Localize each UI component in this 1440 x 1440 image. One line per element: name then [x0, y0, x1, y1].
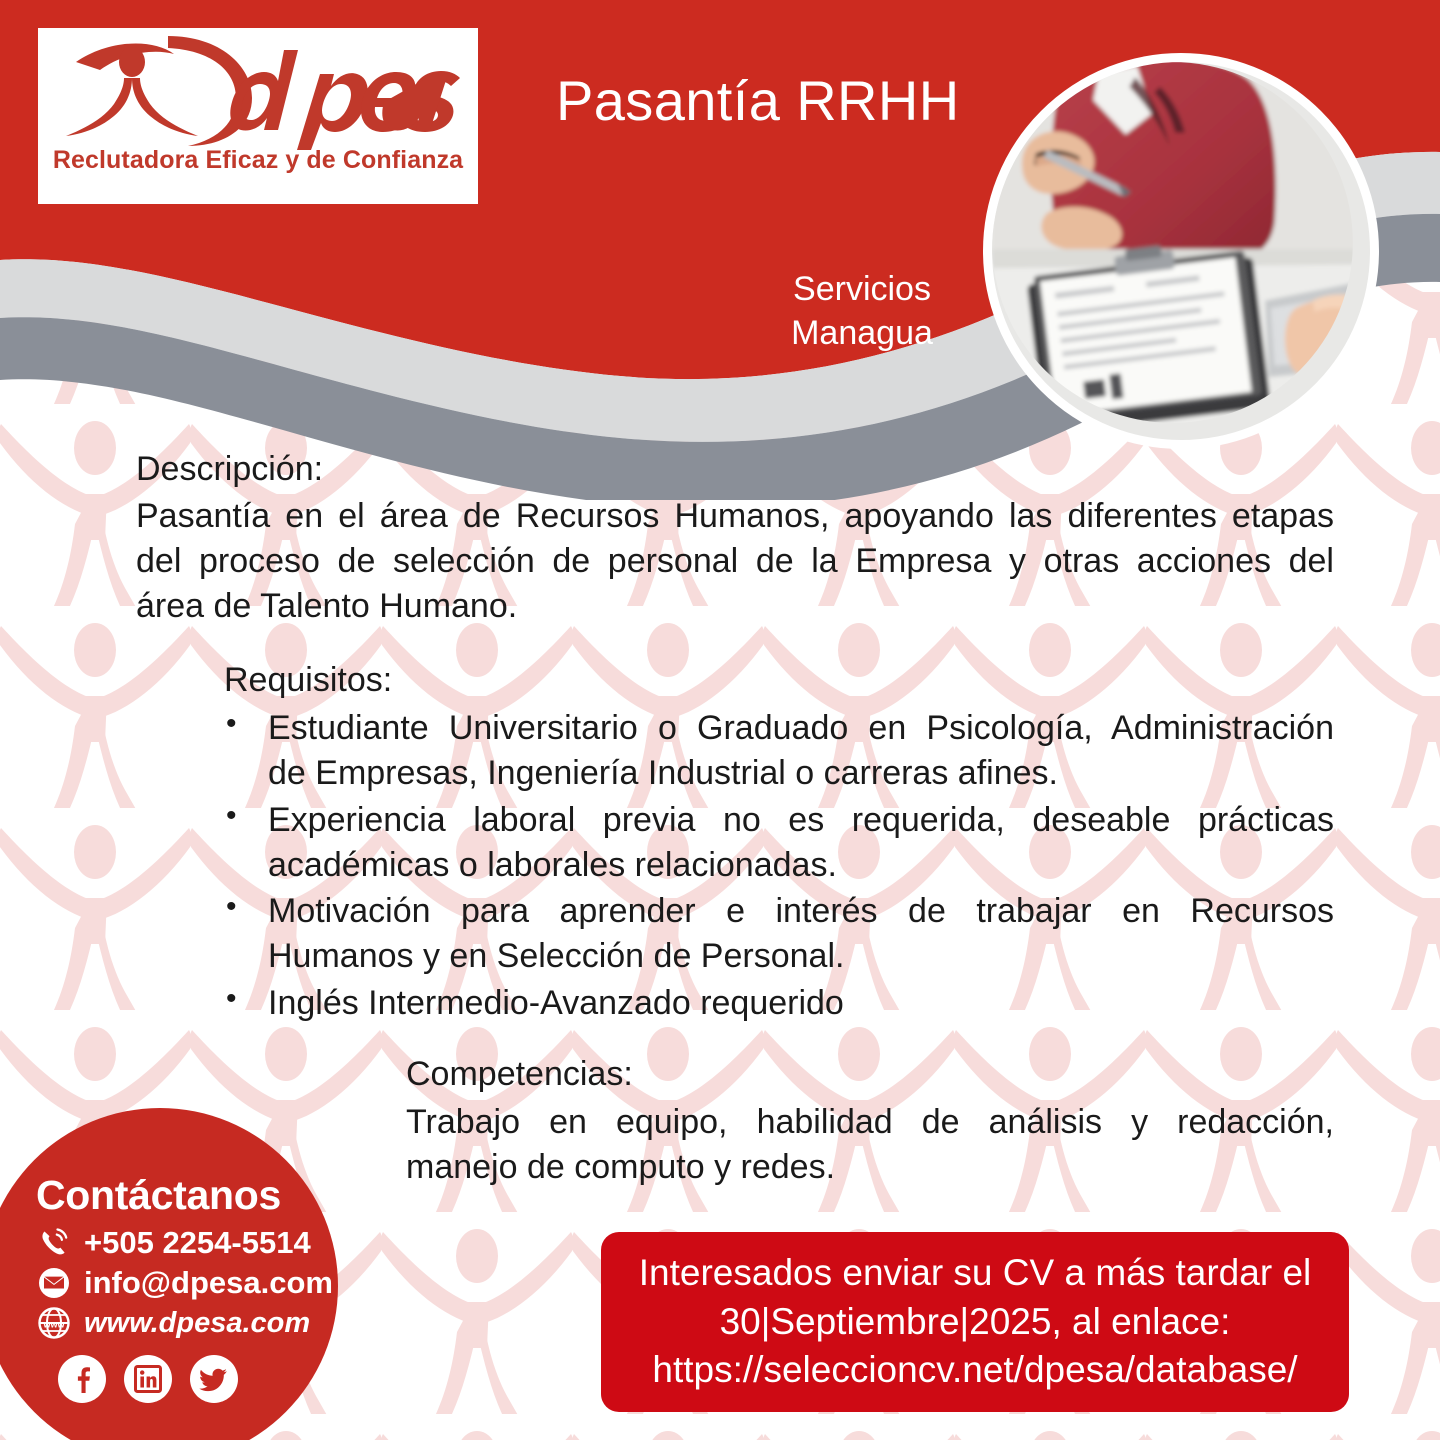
social-links	[58, 1355, 356, 1403]
description-section: Descripción: Pasantía en el área de Recu…	[136, 448, 1334, 629]
description-text: Pasantía en el área de Recursos Humanos,…	[136, 494, 1334, 630]
competencies-text: Trabajo en equipo, habilidad de análisis…	[406, 1100, 1334, 1190]
page-title: Pasantía RRHH	[556, 68, 960, 133]
facebook-button[interactable]	[58, 1355, 106, 1403]
requirement-line: Motivación para aprender e interés de tr…	[268, 889, 1334, 934]
linkedin-button[interactable]	[124, 1355, 172, 1403]
requirement-line: Inglés Intermedio-Avanzado requerido	[268, 981, 1334, 1026]
requirement-line: académicas o laborales relacionadas.	[268, 843, 1334, 888]
requirement-line: Experiencia laboral previa no es requeri…	[268, 798, 1334, 843]
requirement-line: Humanos y en Selección de Personal.	[268, 934, 1334, 979]
requirements-label: Requisitos:	[224, 658, 1334, 702]
envelope-icon	[36, 1265, 72, 1301]
header-subtitle-line1: Servicios	[782, 268, 942, 312]
competencies-section: Competencias: Trabajo en equipo, habilid…	[406, 1052, 1334, 1191]
requirement-line: Estudiante Universitario o Graduado en P…	[268, 706, 1334, 751]
list-item: Experiencia laboral previa no es requeri…	[224, 798, 1334, 888]
cta-line-2: 30|Septiembre|2025, al enlace:	[720, 1298, 1231, 1347]
contact-email: info@dpesa.com	[84, 1265, 333, 1301]
header-subtitle: Servicios Managua	[782, 268, 942, 356]
linkedin-icon	[134, 1365, 162, 1393]
logo-tagline: Reclutadora Eficaz y de Confianza	[53, 146, 463, 175]
list-item: Motivación para aprender e interés de tr…	[224, 889, 1334, 979]
contact-phone-row[interactable]: +505 2254-5514	[36, 1225, 356, 1261]
job-posting-poster: Reclutadora Eficaz y de Confianza Pasant…	[0, 0, 1440, 1440]
company-logo: Reclutadora Eficaz y de Confianza	[38, 28, 478, 204]
description-line: del proceso de selección de personal de …	[136, 539, 1334, 584]
competency-line: Trabajo en equipo, habilidad de análisis…	[406, 1100, 1334, 1145]
requirements-section: Requisitos: Estudiante Universitario o G…	[224, 658, 1334, 1027]
svg-text:www: www	[42, 1320, 65, 1330]
list-item: Estudiante Universitario o Graduado en P…	[224, 706, 1334, 796]
cta-line-1: Interesados enviar su CV a más tardar el	[639, 1249, 1312, 1298]
competencies-label: Competencias:	[406, 1052, 1334, 1096]
contact-website: www.dpesa.com	[84, 1307, 310, 1340]
contact-heading: Contáctanos	[36, 1172, 356, 1219]
interview-photo	[983, 53, 1379, 449]
contact-email-row[interactable]: info@dpesa.com	[36, 1265, 356, 1301]
requirement-line: de Empresas, Ingeniería Industrial o car…	[268, 751, 1334, 796]
twitter-button[interactable]	[190, 1355, 238, 1403]
globe-icon: www	[36, 1305, 72, 1341]
requirements-list: Estudiante Universitario o Graduado en P…	[224, 706, 1334, 1026]
list-item: Inglés Intermedio-Avanzado requerido	[224, 981, 1334, 1026]
description-label: Descripción:	[136, 448, 1334, 492]
description-line: área de Talento Humano.	[136, 584, 1334, 629]
contact-website-row[interactable]: www www.dpesa.com	[36, 1305, 356, 1341]
facebook-icon	[67, 1364, 97, 1394]
cta-application-url[interactable]: https://seleccioncv.net/dpesa/database/	[652, 1346, 1297, 1395]
contact-section: Contáctanos +505 2254-5514 info@dpesa.co…	[36, 1172, 356, 1403]
header-subtitle-line2: Managua	[782, 312, 942, 356]
competency-line: manejo de computo y redes.	[406, 1145, 1334, 1190]
cta-apply-box[interactable]: Interesados enviar su CV a más tardar el…	[601, 1232, 1349, 1412]
twitter-icon	[199, 1364, 229, 1394]
contact-phone: +505 2254-5514	[84, 1225, 311, 1261]
dpesa-logo-mark	[48, 32, 468, 150]
description-line: Pasantía en el área de Recursos Humanos,…	[136, 494, 1334, 539]
phone-icon	[36, 1225, 72, 1261]
